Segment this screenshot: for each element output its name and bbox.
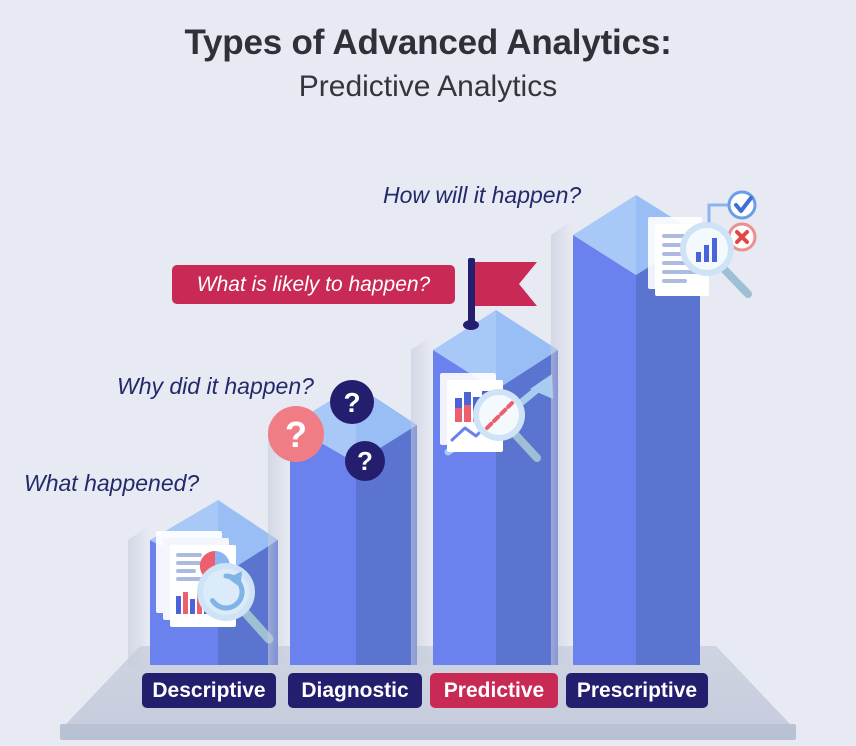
- prescriptive-icon: [648, 192, 755, 296]
- category-label-descriptive[interactable]: Descriptive: [142, 673, 276, 708]
- category-label-prescriptive[interactable]: Prescriptive: [566, 673, 708, 708]
- flag-pennant-icon: [475, 262, 537, 306]
- question-diagnostic: Why did it happen?: [117, 373, 314, 400]
- question-predictive: What is likely to happen?: [197, 273, 430, 297]
- category-label-predictive[interactable]: Predictive: [430, 673, 558, 708]
- svg-text:?: ?: [357, 446, 373, 476]
- question-predictive-banner: What is likely to happen?: [172, 265, 455, 304]
- bar-predictive[interactable]: [411, 310, 558, 665]
- flagpole-icon: [468, 258, 475, 326]
- svg-text:?: ?: [343, 387, 360, 418]
- question-prescriptive: How will it happen?: [383, 182, 581, 209]
- question-descriptive: What happened?: [24, 470, 199, 497]
- category-label-diagnostic[interactable]: Diagnostic: [288, 673, 422, 708]
- infographic-canvas: Types of Advanced Analytics: Predictive …: [0, 0, 856, 746]
- svg-text:?: ?: [285, 414, 307, 455]
